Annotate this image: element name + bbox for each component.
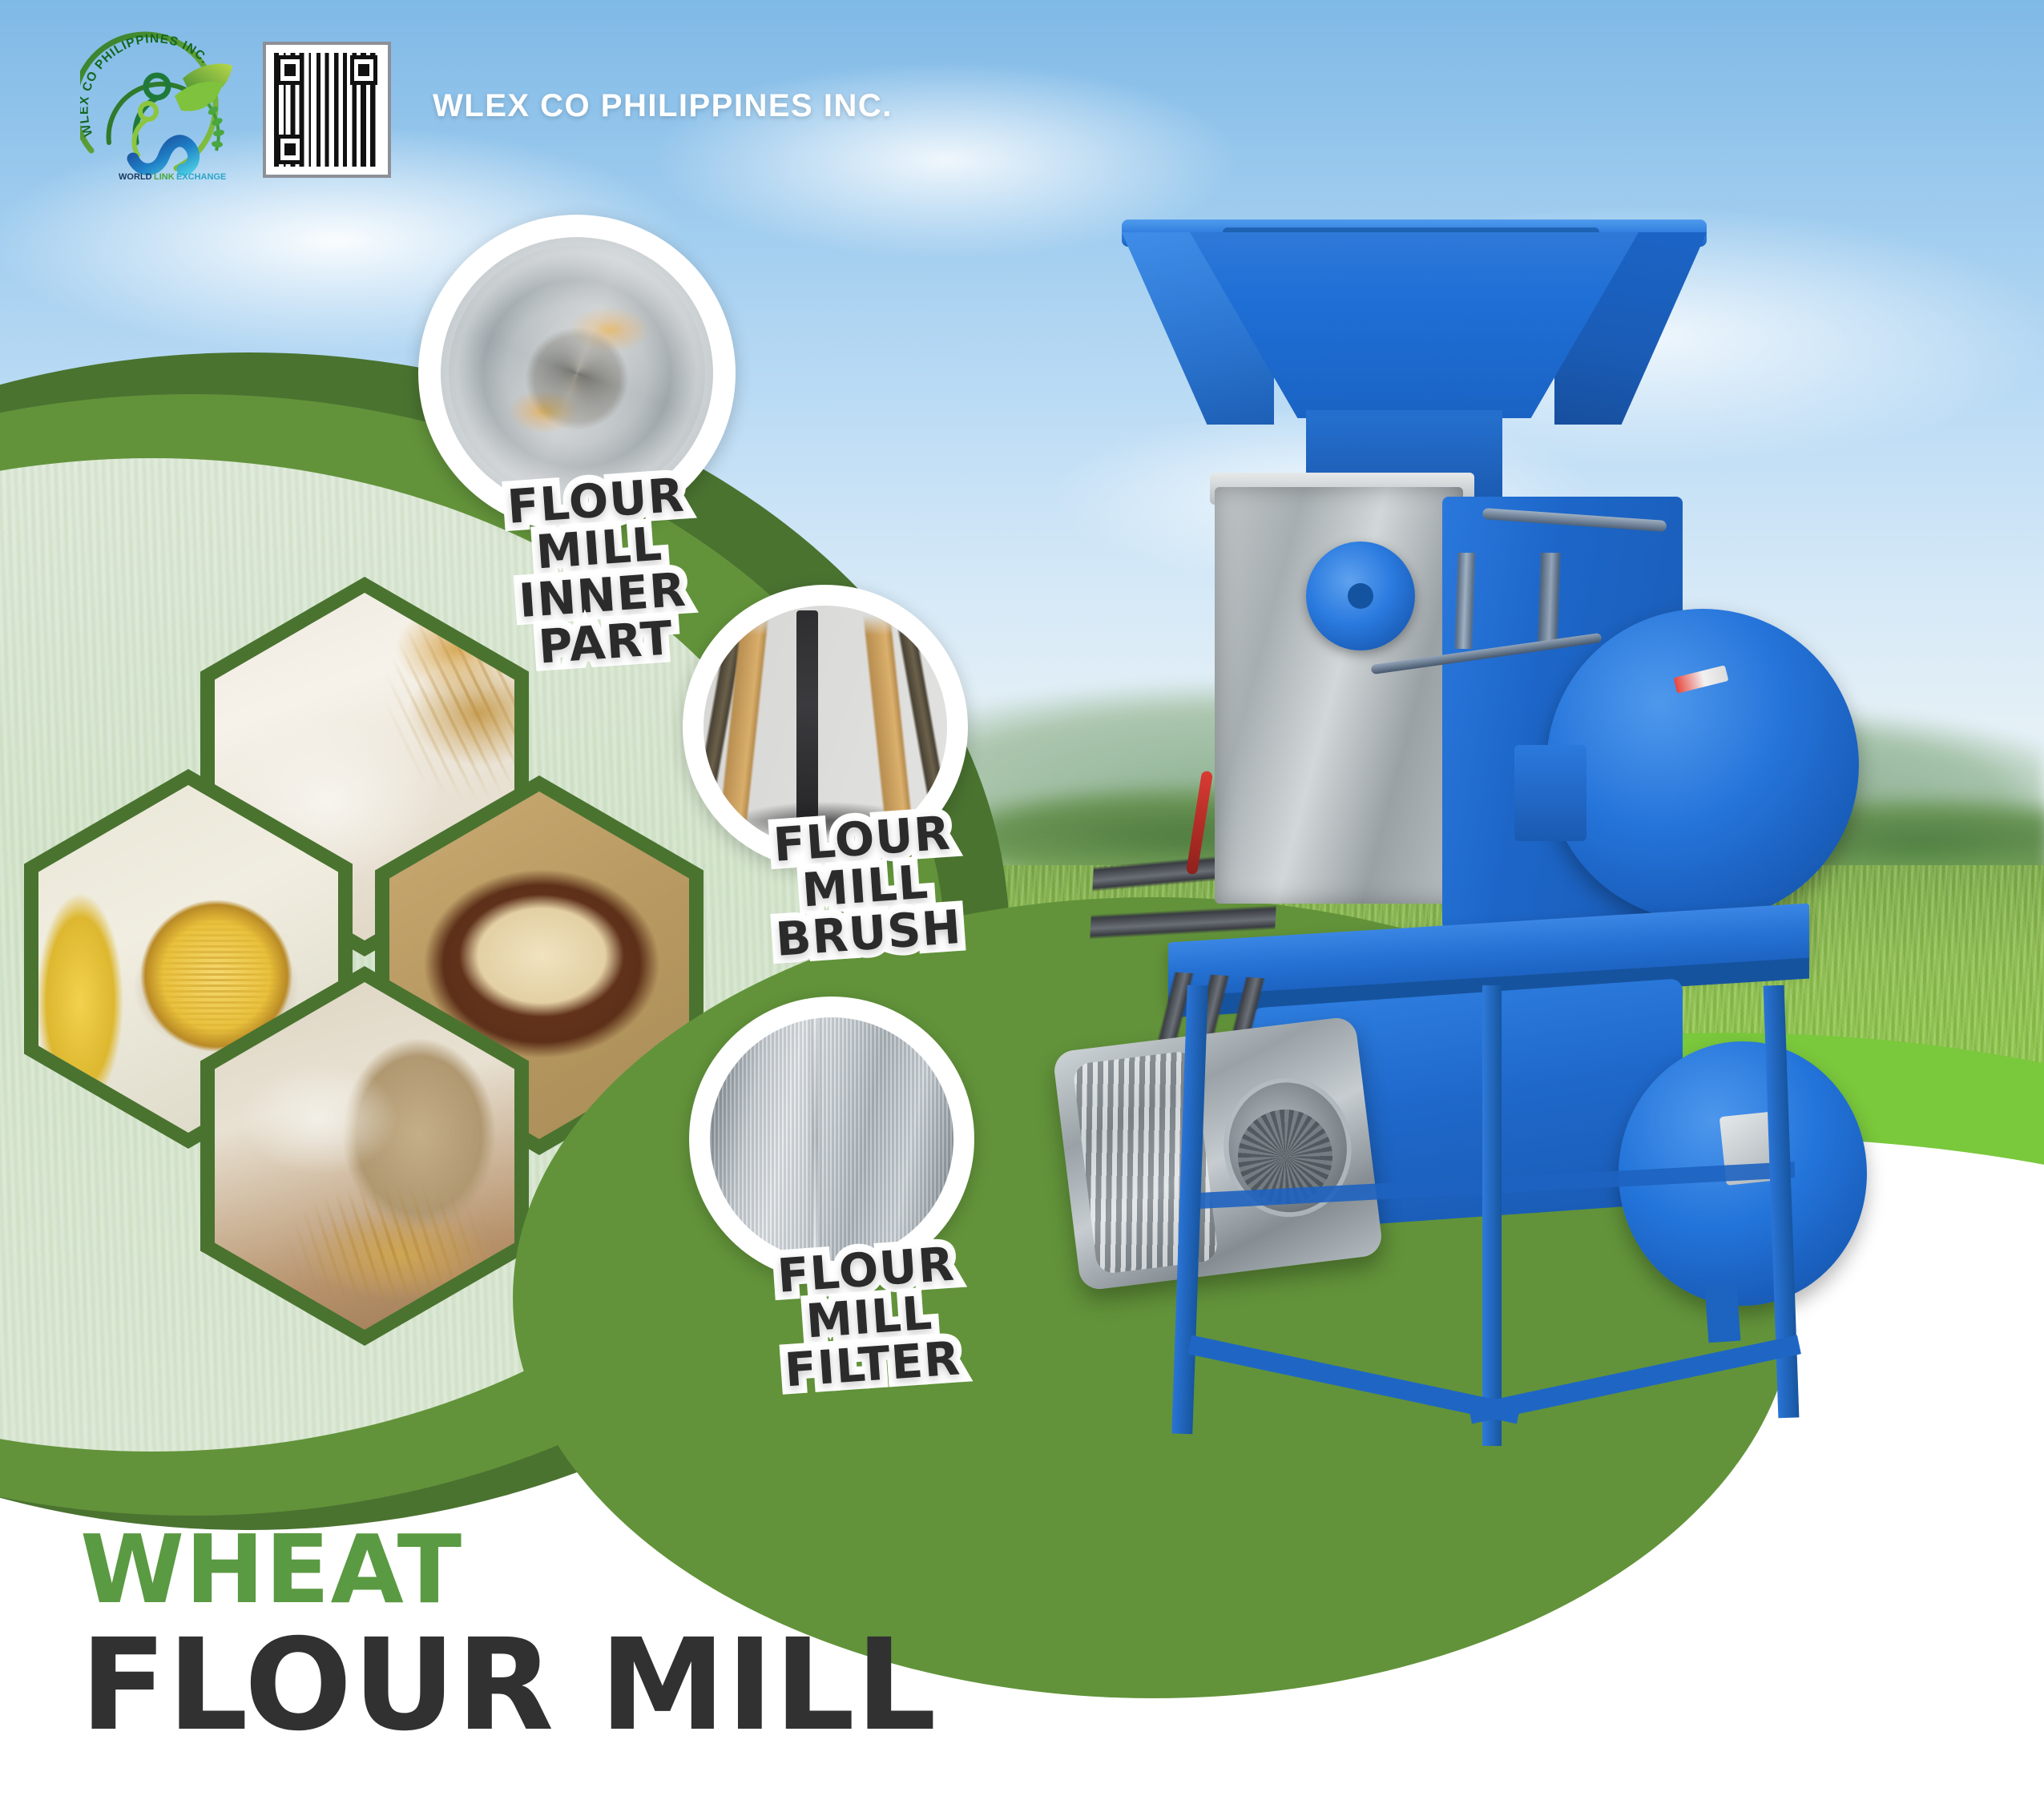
qr-code[interactable] (263, 42, 391, 178)
company-logo[interactable]: WLEX CO PHILIPPINES INC. WORLD LINK EXCH… (80, 30, 240, 183)
svg-text:EXCHANGE: EXCHANGE (176, 172, 226, 182)
qr-code-pattern (274, 53, 380, 167)
svg-text:WORLD: WORLD (119, 172, 152, 182)
qr-finder-top-left (276, 55, 304, 85)
belt-guard-bracket (1514, 745, 1586, 841)
svg-text:LINK: LINK (154, 172, 175, 182)
page-title: WHEAT FLOUR MILL (80, 1522, 937, 1750)
frame-leg-middle (1482, 985, 1502, 1446)
title-line-wheat: WHEAT (80, 1522, 937, 1617)
flour-sack-with-wheat-ears-photo (215, 982, 514, 1330)
pulley-mount-foot (1705, 1285, 1741, 1343)
drive-pulley (1306, 542, 1415, 650)
callout-label-filter: FLOUR MILL FILTER (720, 1237, 1018, 1399)
qr-finder-bottom-left (276, 135, 304, 164)
qr-finder-top-right (350, 55, 377, 85)
blue-flour-mill-machine (1066, 232, 1891, 1378)
belt-guard-disc (1546, 609, 1859, 921)
company-name: WLEX CO PHILIPPINES INC. (433, 88, 893, 124)
electric-motor (1052, 1016, 1384, 1291)
mill-filter-photo (710, 1017, 953, 1261)
poster-canvas: FLOUR MILL INNER PART FLOUR MILL BRUSH F… (0, 0, 2044, 1800)
title-line-flour-mill: FLOUR MILL (80, 1621, 937, 1750)
callout-label-brush: FLOUR MILL BRUSH (716, 806, 1014, 968)
